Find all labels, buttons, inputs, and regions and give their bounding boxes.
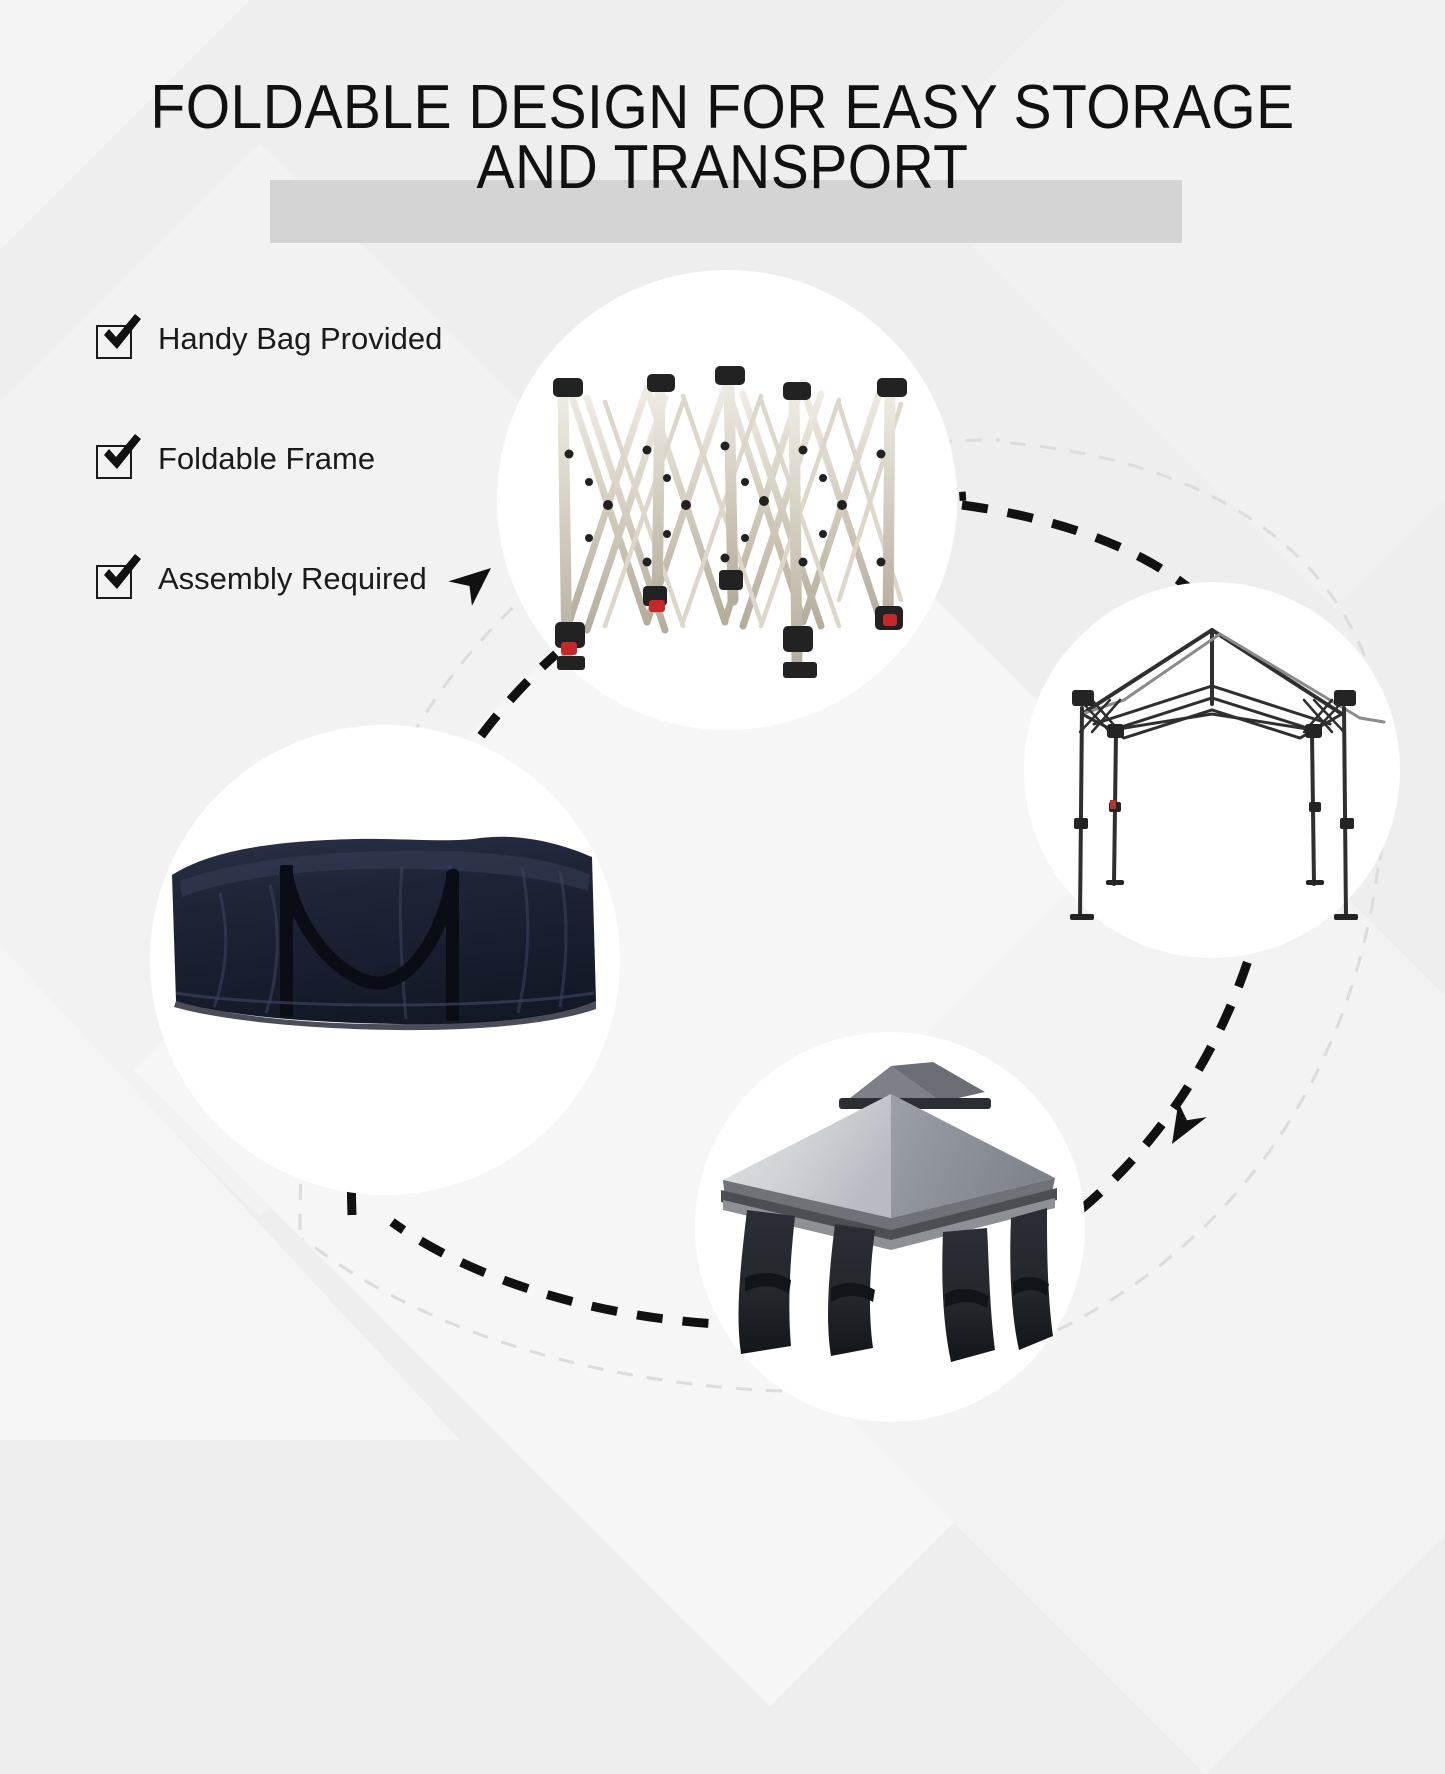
flow-arrowhead-to-gazebo [1160, 1102, 1207, 1152]
folded-frame-photo [497, 270, 957, 730]
gazebo-photo [695, 1032, 1085, 1422]
infographic-canvas: FOLDABLE DESIGN FOR EASY STORAGE AND TRA… [0, 0, 1445, 1445]
gallery-circle-open-frame [1024, 582, 1400, 958]
gallery-circle-folded-frame [497, 270, 957, 730]
carry-bag-photo [150, 725, 620, 1195]
open-frame-photo [1024, 582, 1400, 958]
release-clip [1110, 800, 1116, 809]
flow-arrowhead-to-folded-frame [448, 554, 500, 606]
gallery-circle-gazebo [695, 1032, 1085, 1422]
gallery-circle-carry-bag [150, 725, 620, 1195]
